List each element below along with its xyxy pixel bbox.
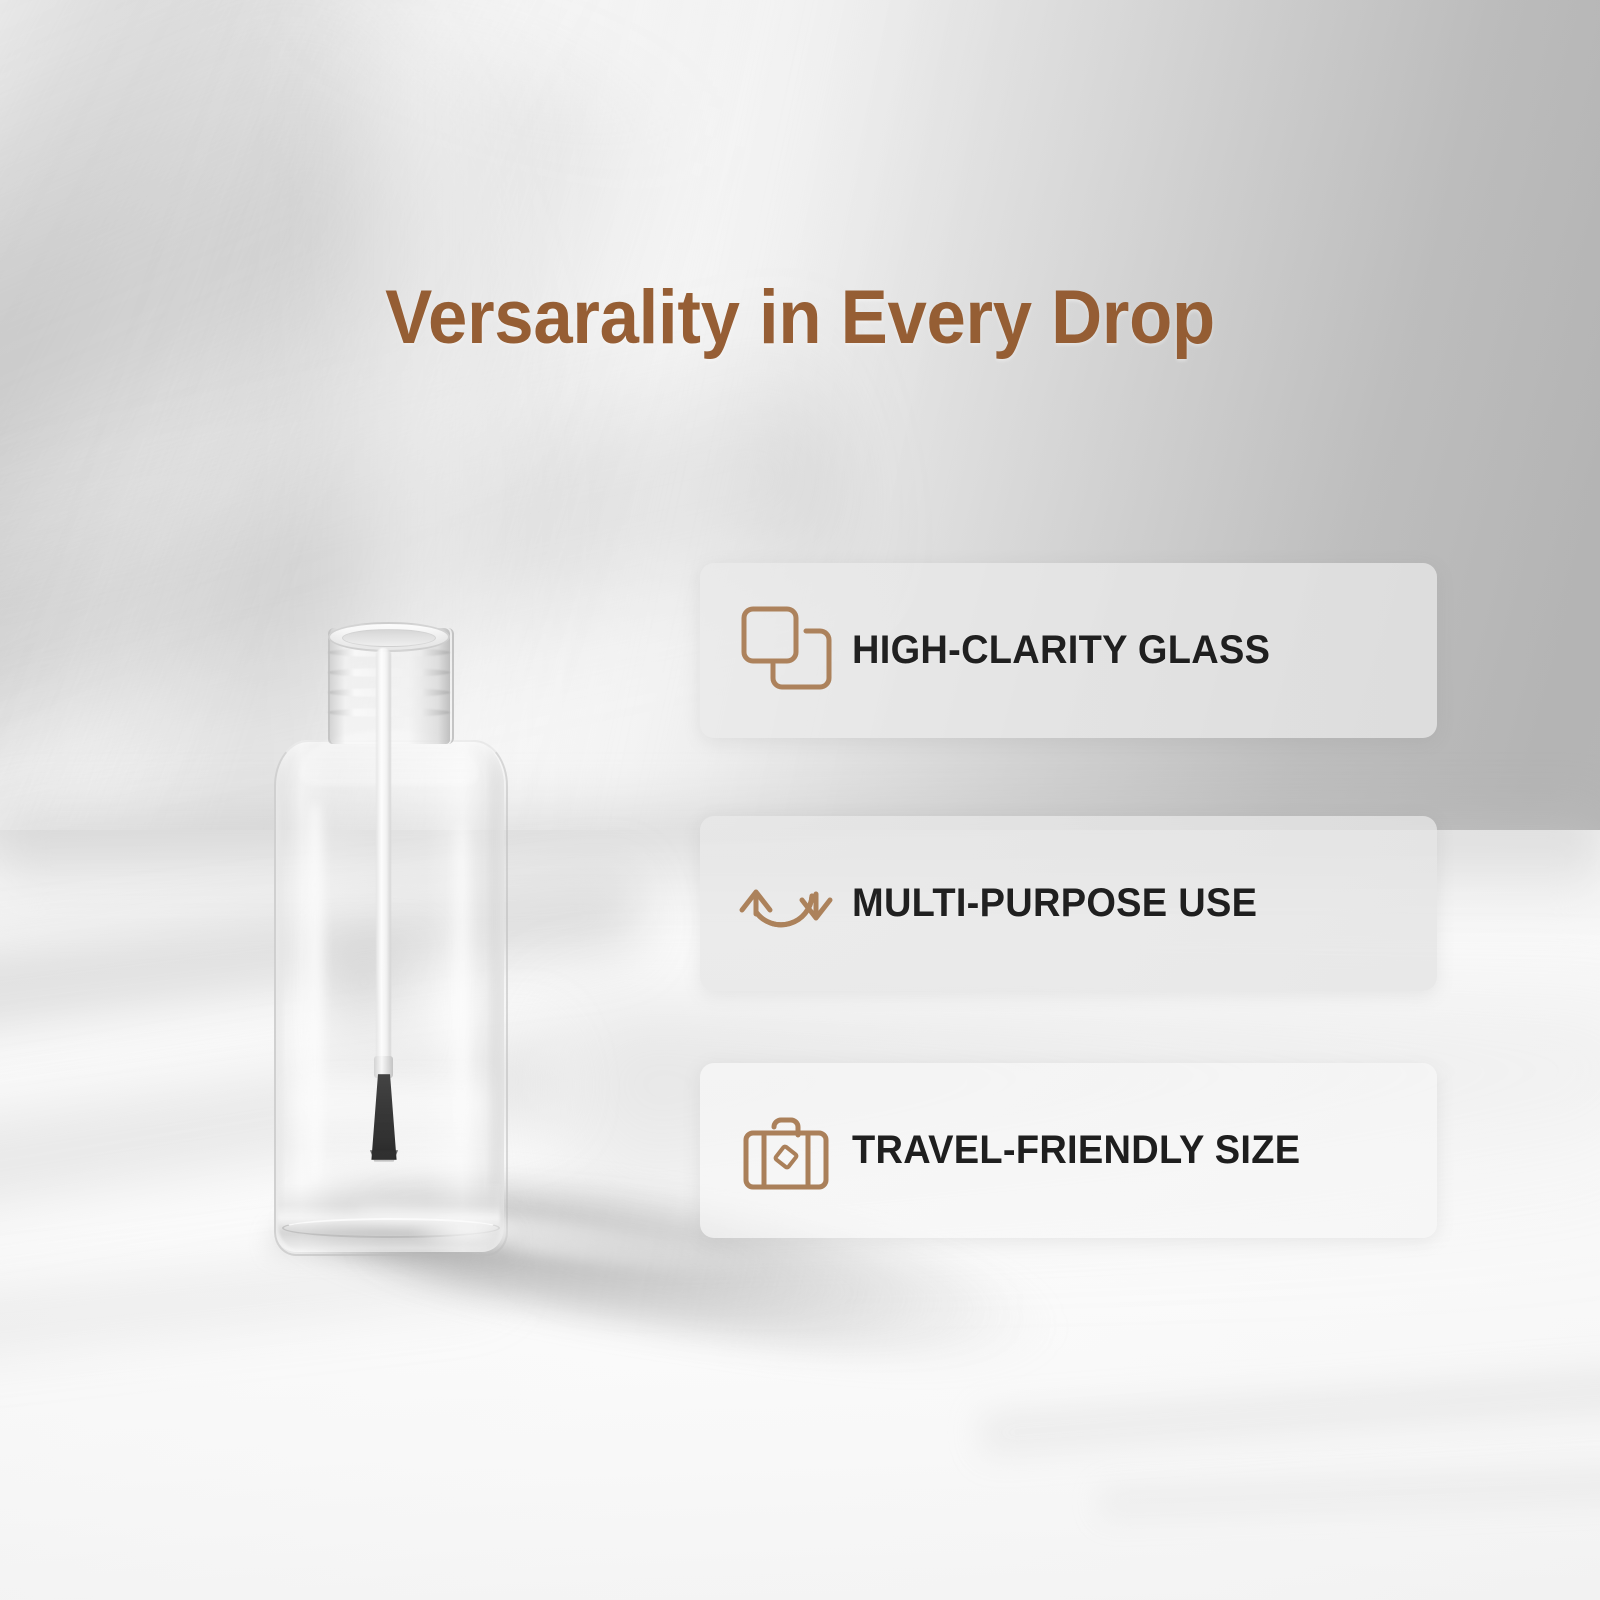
bottle-base-glow — [408, 1214, 528, 1248]
product-bottle — [258, 622, 518, 1262]
feature-card-travel-friendly-size[interactable]: TRAVEL-FRIENDLY SIZE — [700, 1063, 1437, 1238]
layers-squares-icon — [734, 599, 852, 703]
bottle-mouth-opening — [342, 629, 436, 647]
suitcase-icon — [734, 1099, 852, 1203]
product-feature-banner: Versarality in Every Drop HIGH-CLARITY G… — [0, 0, 1600, 1600]
feature-label: MULTI-PURPOSE USE — [852, 881, 1257, 926]
bottle-highlight-left — [302, 802, 328, 1182]
bottle-highlight-right — [450, 822, 472, 1152]
feature-card-high-clarity-glass[interactable]: HIGH-CLARITY GLASS — [700, 563, 1437, 738]
applicator-stem — [376, 648, 391, 1068]
feature-label: TRAVEL-FRIENDLY SIZE — [852, 1128, 1300, 1173]
feature-card-list: HIGH-CLARITY GLASS MULTI-PURPOSE USE — [700, 563, 1437, 1238]
refresh-cycle-icon — [734, 852, 852, 956]
feature-label: HIGH-CLARITY GLASS — [852, 628, 1270, 673]
page-title: Versarality in Every Drop — [56, 278, 1544, 359]
feature-card-multi-purpose-use[interactable]: MULTI-PURPOSE USE — [700, 816, 1437, 991]
